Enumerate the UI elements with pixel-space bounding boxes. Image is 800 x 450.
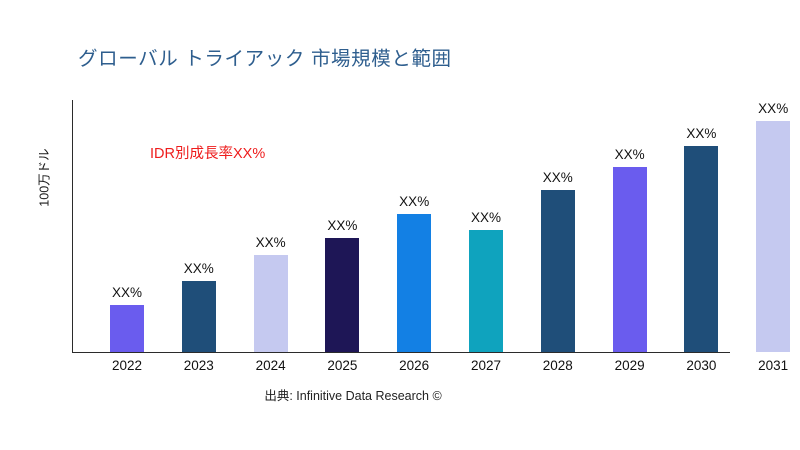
bar-group: XX% (182, 100, 216, 352)
bar-2024[interactable] (254, 255, 288, 352)
bar-group: XX% (469, 100, 503, 352)
bar-value-label-2028: XX% (543, 170, 573, 185)
bar-2023[interactable] (182, 281, 216, 352)
bar-2031[interactable] (756, 121, 790, 352)
x-axis-line (72, 352, 730, 353)
bar-group: XX% (325, 100, 359, 352)
chart-canvas: グローバル トライアック 市場規模と範囲 100万ドル XX%XX%XX%XX%… (0, 0, 800, 450)
bar-value-label-2029: XX% (615, 147, 645, 162)
bar-group: XX% (397, 100, 431, 352)
bar-group: XX% (254, 100, 288, 352)
bar-value-label-2026: XX% (399, 194, 429, 209)
x-tick-label-2028: 2028 (523, 358, 593, 373)
bar-group: XX% (756, 100, 790, 352)
bar-value-label-2025: XX% (327, 218, 357, 233)
x-tick-label-2027: 2027 (451, 358, 521, 373)
x-tick-label-2024: 2024 (236, 358, 306, 373)
bar-value-label-2022: XX% (112, 285, 142, 300)
bar-2029[interactable] (613, 167, 647, 352)
bar-2030[interactable] (684, 146, 718, 352)
bar-value-label-2027: XX% (471, 210, 501, 225)
bar-value-label-2030: XX% (686, 126, 716, 141)
chart-title: グローバル トライアック 市場規模と範囲 (78, 42, 452, 71)
bar-group: XX% (613, 100, 647, 352)
bar-group: XX% (110, 100, 144, 352)
bar-value-label-2023: XX% (184, 261, 214, 276)
x-tick-label-2025: 2025 (307, 358, 377, 373)
bar-value-label-2024: XX% (256, 235, 286, 250)
x-tick-label-2030: 2030 (666, 358, 736, 373)
source-note: 出典: Infinitive Data Research © (0, 385, 706, 404)
x-tick-label-2029: 2029 (595, 358, 665, 373)
bar-group: XX% (541, 100, 575, 352)
bar-2028[interactable] (541, 190, 575, 352)
bar-2025[interactable] (325, 238, 359, 352)
bar-value-label-2031: XX% (758, 101, 788, 116)
growth-rate-annotation: IDR別成長率XX% (150, 142, 265, 163)
bar-2022[interactable] (110, 305, 144, 352)
x-tick-label-2022: 2022 (92, 358, 162, 373)
y-axis-label: 100万ドル (34, 123, 53, 233)
x-tick-label-2023: 2023 (164, 358, 234, 373)
bar-2026[interactable] (397, 214, 431, 352)
bar-2027[interactable] (469, 230, 503, 352)
plot-area: XX%XX%XX%XX%XX%XX%XX%XX%XX%XX% (72, 100, 730, 352)
x-tick-label-2031: 2031 (738, 358, 800, 373)
x-tick-label-2026: 2026 (379, 358, 449, 373)
bar-group: XX% (684, 100, 718, 352)
